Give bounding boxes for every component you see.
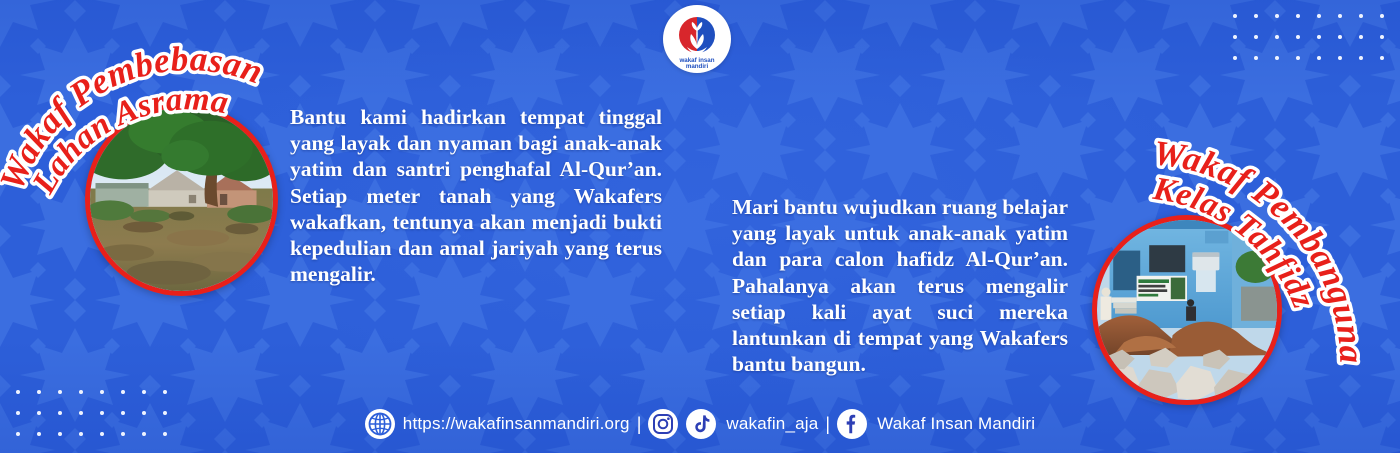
facebook-link[interactable]: Wakaf Insan Mandiri	[837, 409, 1035, 439]
website-link[interactable]: https://wakafinsanmandiri.org	[365, 409, 630, 439]
footer-separator-2: |	[825, 414, 830, 435]
right-campaign-description-text: Mari bantu wujudkan ruang belajar yang l…	[732, 194, 1068, 378]
logo-text-line2: mandiri	[686, 63, 709, 70]
left-campaign-description-text: Bantu kami hadirkan tempat tinggal yang …	[290, 104, 662, 288]
tiktok-icon	[686, 409, 716, 439]
decorative-dot-grid-top-right	[1233, 14, 1384, 60]
website-url: https://wakafinsanmandiri.org	[403, 414, 630, 434]
instagram-icon	[648, 409, 678, 439]
instagram-link[interactable]	[648, 409, 678, 439]
footer-separator-1: |	[637, 414, 642, 435]
footer-contact-bar: https://wakafinsanmandiri.org | wakafin_…	[0, 403, 1400, 445]
right-campaign-description: Mari bantu wujudkan ruang belajar yang l…	[732, 194, 1068, 378]
promotional-banner: wakaf insan mandiri	[0, 0, 1400, 453]
wakaf-insan-mandiri-logo: wakaf insan mandiri	[663, 5, 731, 73]
right-campaign-photo	[1092, 215, 1282, 405]
tiktok-link[interactable]: wakafin_aja	[686, 409, 818, 439]
left-campaign-photo	[85, 103, 278, 296]
left-campaign-description: Bantu kami hadirkan tempat tinggal yang …	[290, 104, 662, 288]
globe-icon	[365, 409, 395, 439]
social-handle: wakafin_aja	[726, 414, 818, 434]
facebook-page-name: Wakaf Insan Mandiri	[877, 414, 1035, 434]
facebook-icon	[837, 409, 867, 439]
